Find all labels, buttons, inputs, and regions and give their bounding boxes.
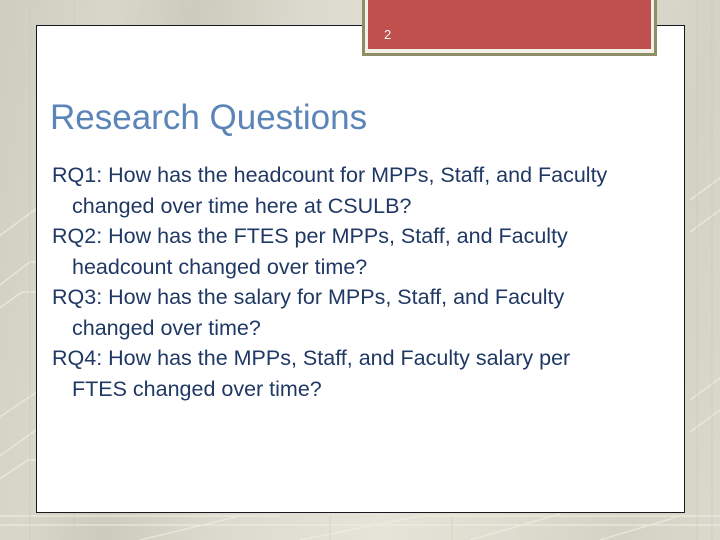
page-number: 2	[384, 28, 391, 42]
list-item: RQ1: How has the headcount for MPPs, Sta…	[52, 160, 612, 221]
list-item: RQ2: How has the FTES per MPPs, Staff, a…	[52, 221, 612, 282]
header-banner: 2	[362, 0, 657, 56]
list-item: RQ3: How has the salary for MPPs, Staff,…	[52, 282, 612, 343]
list-item: RQ4: How has the MPPs, Staff, and Facult…	[52, 343, 612, 404]
banner-fill: 2	[368, 0, 651, 49]
page-title: Research Questions	[50, 97, 367, 139]
research-questions-list: RQ1: How has the headcount for MPPs, Sta…	[52, 160, 612, 404]
slide-canvas: 2 Research Questions RQ1: How has the he…	[0, 0, 720, 540]
